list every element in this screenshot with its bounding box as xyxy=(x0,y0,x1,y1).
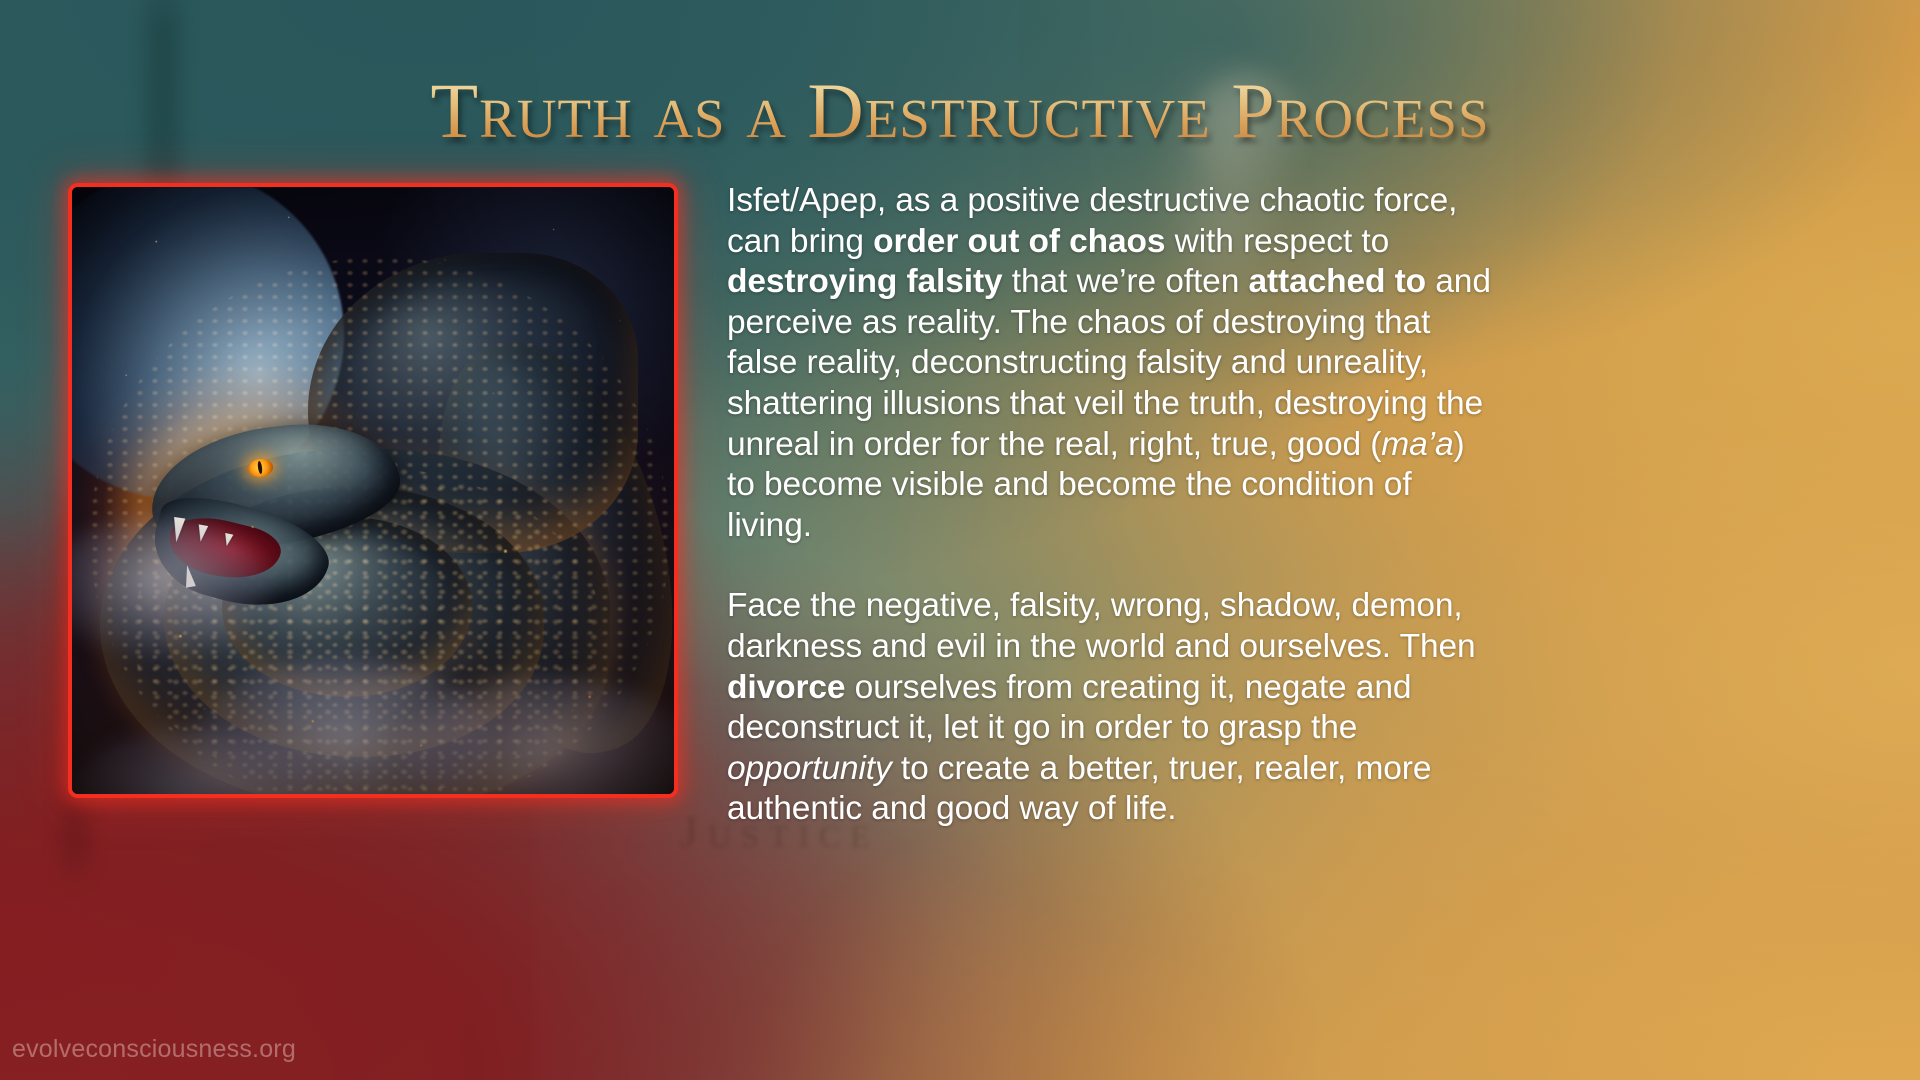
page-title: Truth as a Destructive Process xyxy=(0,72,1920,150)
paragraph-two: Face the negative, falsity, wrong, shado… xyxy=(727,586,1492,830)
artwork-vignette xyxy=(72,187,674,794)
body-copy: Isfet/Apep, as a positive destructive ch… xyxy=(727,181,1492,830)
artwork-frame xyxy=(68,183,678,798)
slide-root: Justice Truth as a Destructive Process xyxy=(0,0,1920,1080)
paragraph-one: Isfet/Apep, as a positive destructive ch… xyxy=(727,181,1492,546)
serpent-artwork xyxy=(72,187,674,794)
site-watermark: evolveconsciousness.org xyxy=(12,1035,296,1064)
